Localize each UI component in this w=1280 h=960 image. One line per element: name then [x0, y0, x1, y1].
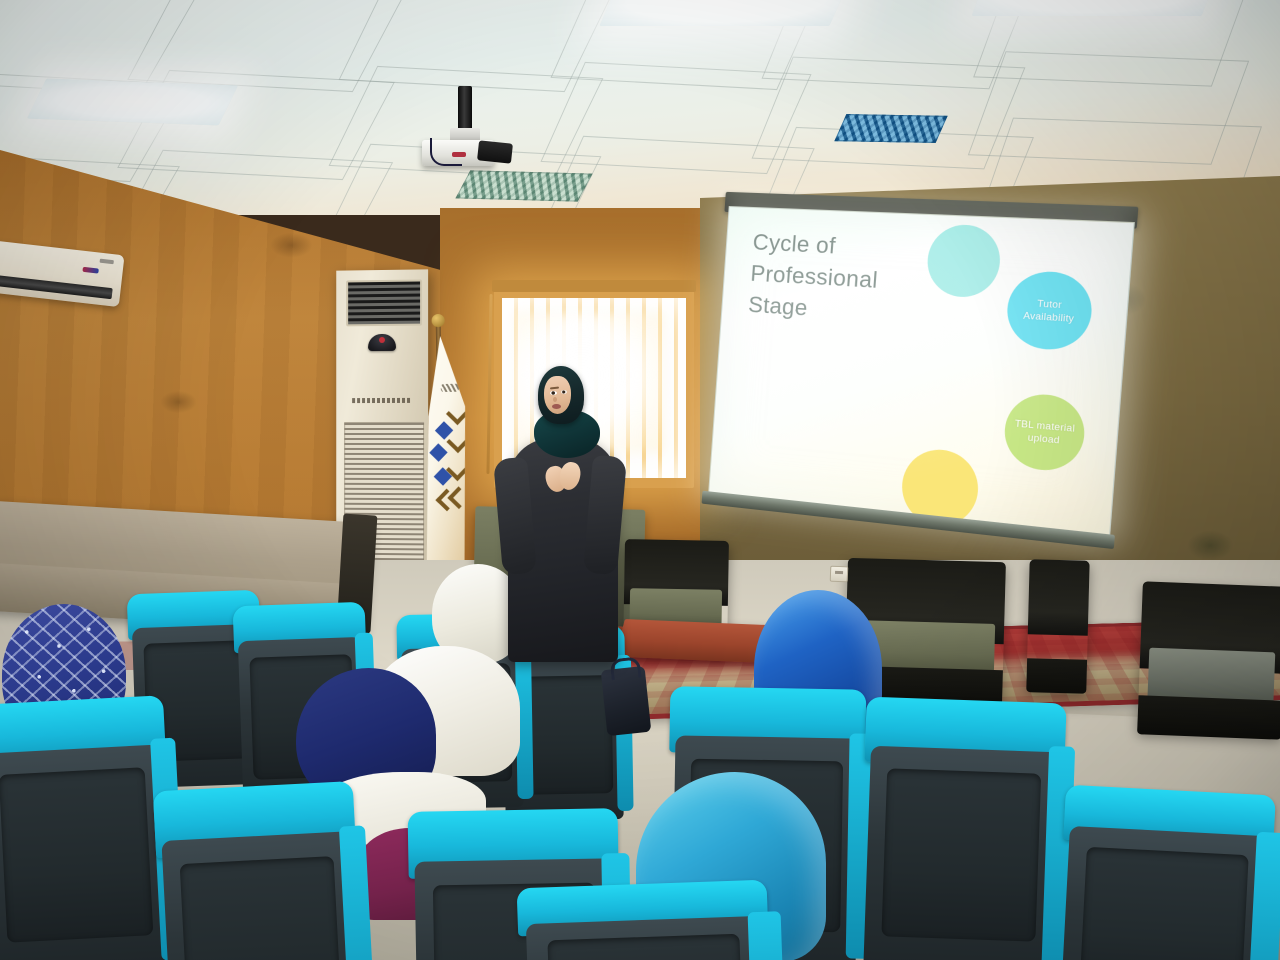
armchair: [1026, 559, 1089, 691]
flag-arabic-script: [441, 384, 459, 392]
ceiling-light-panel: [27, 79, 238, 126]
suspended-ceiling: [0, 0, 1280, 215]
blind-valance: [492, 280, 696, 292]
slide-bubble-tutor-availability: Tutor Availability: [1005, 270, 1095, 352]
ac-brand-logo: [100, 259, 114, 265]
projection-screen-surface: Cycle of Professional Stage Tutor Availa…: [708, 206, 1135, 537]
armchair: [1137, 581, 1280, 736]
ac-top-grille: [346, 279, 422, 326]
seat-back: [525, 916, 766, 960]
seat-armrest[interactable]: [748, 911, 786, 960]
ac-power-indicator: [379, 337, 385, 343]
armchair-base: [1026, 658, 1087, 693]
presenter-nose: [553, 397, 557, 402]
slide-heading: Cycle of Professional Stage: [747, 226, 951, 333]
flag-cloth: [420, 336, 468, 573]
flag-diamond: [429, 443, 447, 461]
ceiling-light-panel: [972, 0, 1219, 16]
presenter-eye: [550, 391, 557, 395]
handbag: [601, 666, 652, 736]
projector-connector: [452, 152, 466, 157]
institutional-flag: [412, 330, 474, 581]
armchair-base: [1137, 695, 1280, 739]
seat-cushion: [881, 769, 1041, 942]
ac-indicator-led: [82, 267, 98, 274]
seat-back: [863, 745, 1059, 960]
wall-power-outlet: [830, 566, 849, 583]
presentation-room-scene: Cycle of Professional Stage Tutor Availa…: [0, 0, 1280, 960]
ac-brand-text: [352, 398, 412, 403]
seat-cushion: [0, 768, 154, 943]
outlet-slot: [835, 571, 843, 574]
projector-lens-housing: [477, 140, 513, 163]
presenter: [496, 362, 624, 662]
auditorium-seat[interactable]: [857, 697, 1066, 960]
ceiling-vent-grille: [455, 170, 592, 201]
seat-back: [0, 744, 172, 960]
seat-back: [1060, 826, 1267, 960]
projector-mount-pole: [458, 86, 472, 132]
seat-cushion: [180, 856, 343, 960]
seat-cushion: [1080, 847, 1249, 960]
auditorium-seat[interactable]: [517, 880, 774, 960]
ac-air-vent: [0, 275, 113, 299]
armchair-back: [1028, 559, 1090, 636]
presenter-mouth: [552, 404, 561, 409]
ceiling-vent-grille-blue: [834, 114, 947, 143]
ceiling-projector: [416, 86, 528, 168]
ac-control-emblem: [368, 334, 396, 351]
presenter-eye: [561, 390, 567, 394]
presenter-eyebrow: [550, 387, 559, 390]
auditorium-seat[interactable]: [0, 695, 177, 960]
seat-back: [161, 832, 361, 960]
ceiling-light-panel: [599, 0, 850, 26]
auditorium-seat[interactable]: [153, 781, 367, 960]
slide-bubble-tbl-material-upload: TBL material upload: [1002, 392, 1087, 474]
auditorium-seat[interactable]: [1054, 785, 1276, 960]
flag-chevron: [446, 402, 469, 425]
presenter-face: [544, 376, 571, 414]
seat-cushion: [547, 933, 744, 960]
projection-screen: Cycle of Professional Stage Tutor Availa…: [707, 206, 1132, 549]
